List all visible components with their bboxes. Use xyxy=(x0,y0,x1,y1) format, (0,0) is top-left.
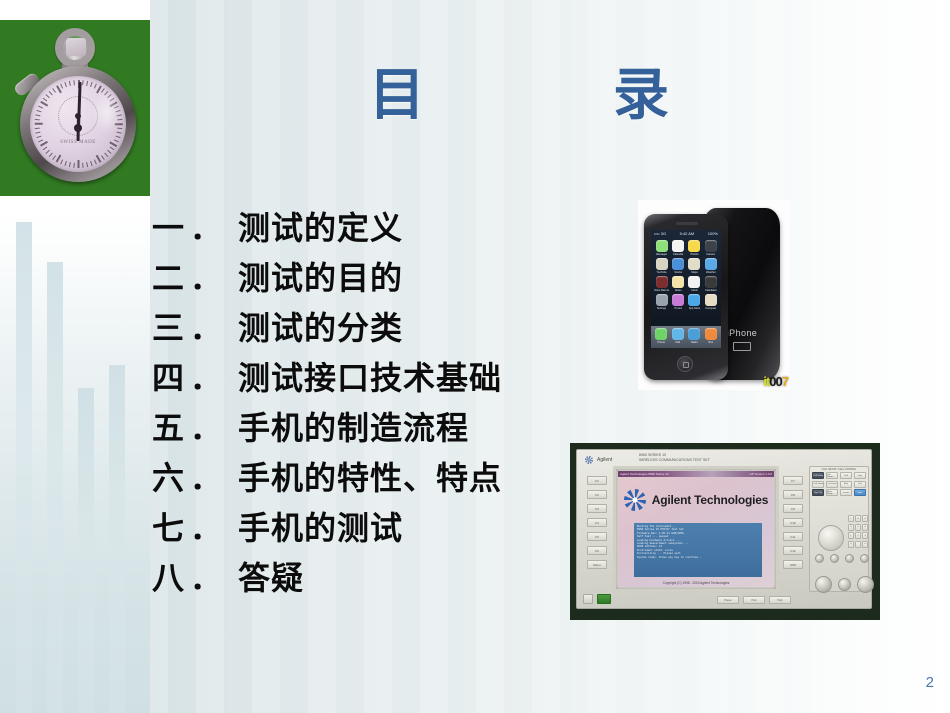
stopwatch-tick xyxy=(114,139,119,142)
test-set-softkey[interactable]: F8 xyxy=(783,490,803,499)
connector-audio-in[interactable] xyxy=(845,554,854,563)
stopwatch-tick xyxy=(101,155,105,160)
iphone-app-label: Compass xyxy=(705,307,716,310)
agilent-starburst-icon xyxy=(624,489,646,511)
test-set-control-key[interactable]: Local xyxy=(840,489,852,496)
iphone-app-label: Weather xyxy=(706,271,716,274)
test-set-control-key[interactable]: Call xyxy=(840,472,852,479)
messages-icon xyxy=(656,240,668,252)
toc-item-6[interactable]: 六． 手机的特性、特点 xyxy=(152,453,592,503)
stopwatch-tick xyxy=(107,150,111,154)
test-set-numpad-key[interactable]: 5 xyxy=(855,524,861,531)
stopwatch-tick xyxy=(94,84,97,89)
toc-item-label: 测试接口技术基础 xyxy=(238,353,502,399)
iphone-app-label: Stocks xyxy=(674,271,682,274)
stopwatch-tick xyxy=(43,98,48,102)
iphone-front-view: •••• 3G 5:42 AM 100% MessagesCalendarPho… xyxy=(644,214,728,380)
watermark-middle: 00 xyxy=(769,374,781,389)
stopwatch-subdial-pivot xyxy=(75,113,81,119)
iphone-product-image: iPhone •••• 3G 5:42 AM 100% MessagesCale… xyxy=(638,200,790,390)
clock-icon xyxy=(688,276,700,288)
decorative-bar-1 xyxy=(16,222,32,713)
connector-rf-out[interactable] xyxy=(857,576,874,593)
iphone-dock: PhoneMailSafariiPod xyxy=(651,326,721,348)
stopwatch-tick xyxy=(52,155,56,160)
iphone-earpiece-speaker xyxy=(676,222,698,225)
display-title-left: Agilent Technologies 8960 Series 10 xyxy=(620,472,668,476)
image-watermark: it007 xyxy=(763,374,788,389)
test-set-left-softkeys: F1F2F3F4F5F6Menu xyxy=(587,476,607,569)
stopwatch-tick xyxy=(36,136,41,138)
test-set-display-bezel: Agilent Technologies 8960 Series 10 HP V… xyxy=(613,466,779,592)
toc-item-number: 六． xyxy=(152,453,238,499)
app-store-icon xyxy=(688,294,700,306)
decorative-bar-4 xyxy=(109,365,125,713)
rotary-knob[interactable] xyxy=(818,525,844,551)
test-set-control-key[interactable]: Call Hand xyxy=(812,481,824,488)
test-set-model-text: 8960 SERIES 10 WIRELESS COMMUNICATIONS T… xyxy=(639,453,710,463)
iphone-app-icon[interactable]: Calculator xyxy=(704,276,718,292)
iphone-dock-app[interactable]: iPod xyxy=(704,328,719,348)
iphone-app-icon[interactable]: App Store xyxy=(687,294,701,310)
iphone-app-label: Voice Memos xyxy=(654,289,669,292)
test-set-softkey[interactable]: F2 xyxy=(587,490,607,499)
iphone-capacity-badge xyxy=(733,342,751,351)
stopwatch-tick xyxy=(115,110,120,112)
stopwatch-tick xyxy=(60,159,63,164)
stopwatch-tick xyxy=(104,153,108,157)
stopwatch-center-pivot xyxy=(74,124,82,132)
stopwatch-tick xyxy=(73,80,75,85)
test-set-control-key[interactable]: Call Limit xyxy=(826,481,838,488)
test-set-numpad-key[interactable]: 3 xyxy=(862,532,868,539)
toc-item-label: 测试的分类 xyxy=(238,303,403,349)
test-set-control-key[interactable]: Call Setup xyxy=(812,472,824,479)
toc-item-8[interactable]: 八． 答疑 xyxy=(152,553,592,603)
photos-icon xyxy=(688,240,700,252)
test-set-softkey[interactable]: Shift xyxy=(783,560,803,569)
stopwatch-tick xyxy=(117,119,122,121)
test-set-softkey[interactable]: F11 xyxy=(783,532,803,541)
numeric-keypad: 7894561230.+/- xyxy=(848,515,868,548)
stopwatch-tick xyxy=(43,147,48,151)
iphone-status-bar: •••• 3G 5:42 AM 100% xyxy=(651,230,721,237)
toc-item-number: 三． xyxy=(152,303,238,349)
iphone-app-label: Messages xyxy=(656,253,668,256)
connector-audio-out[interactable] xyxy=(860,554,869,563)
connector-aux-rf-out[interactable] xyxy=(815,554,824,563)
mail-icon xyxy=(672,328,684,340)
test-set-right-softkeys: F7F8F9F10F11F12Shift xyxy=(783,476,803,569)
test-set-bottom-button[interactable]: Help xyxy=(769,596,791,604)
iphone-app-label: Settings xyxy=(657,307,666,310)
iphone-dock-app[interactable]: Phone xyxy=(654,328,669,348)
test-set-power-indicator xyxy=(597,594,611,604)
test-set-numpad-key[interactable]: 6 xyxy=(862,524,868,531)
test-set-softkey[interactable]: F12 xyxy=(783,546,803,555)
test-set-numpad-key[interactable]: 0 xyxy=(848,541,854,548)
status-battery: 100% xyxy=(708,231,718,236)
toc-item-label: 手机的制造流程 xyxy=(238,403,469,449)
test-set-control-key[interactable]: End xyxy=(840,481,852,488)
iphone-app-icon[interactable]: Weather xyxy=(704,258,718,274)
test-set-softkey[interactable]: F4 xyxy=(587,518,607,527)
stopwatch-tick xyxy=(38,139,43,142)
stopwatch-tick xyxy=(73,163,75,168)
test-set-brand-name: Agilent xyxy=(597,457,612,463)
stopwatch-tick xyxy=(117,114,122,116)
stopwatch-tick xyxy=(90,82,92,87)
page-title: 目 录 xyxy=(320,50,740,131)
stopwatch-ring-inner xyxy=(66,38,86,56)
toc-item-label: 测试的定义 xyxy=(238,203,403,249)
test-set-numpad-key[interactable]: 4 xyxy=(848,524,854,531)
stopwatch-tick xyxy=(36,110,41,112)
toc-item-7[interactable]: 七． 手机的测试 xyxy=(152,503,592,553)
test-set-softkey[interactable]: F3 xyxy=(587,504,607,513)
stopwatch-tick xyxy=(35,119,40,121)
stopwatch-brand-text: SWISS MADE xyxy=(46,140,110,145)
test-set-control-key[interactable]: Call xyxy=(854,481,866,488)
test-set-numpad-key[interactable]: 8 xyxy=(855,515,861,522)
iphone-app-label: Calendar xyxy=(673,253,684,256)
youtube-icon xyxy=(656,258,668,270)
connector-serial[interactable] xyxy=(838,578,851,591)
display-title-bar: Agilent Technologies 8960 Series 10 HP V… xyxy=(618,471,774,477)
display-copyright-text: Copyright (C) 1998 - 2003 Agilent Techno… xyxy=(618,581,774,585)
stopwatch-image: SWISS MADE xyxy=(0,20,150,196)
test-set-numpad-key[interactable]: 9 xyxy=(862,515,868,522)
stopwatch-tick xyxy=(115,136,120,138)
decorative-bar-2 xyxy=(47,262,63,713)
home-button-square-icon xyxy=(683,362,689,368)
test-set-softkey[interactable]: Menu xyxy=(587,560,607,569)
iphone-app-icon[interactable]: Maps xyxy=(687,258,701,274)
test-set-softkey[interactable]: F5 xyxy=(587,532,607,541)
ipod-icon xyxy=(705,328,717,340)
test-set-softkey[interactable]: F9 xyxy=(783,504,803,513)
toc-item-1[interactable]: 一． 测试的定义 xyxy=(152,203,592,253)
iphone-app-icon[interactable]: Voice Memos xyxy=(654,276,669,292)
iphone-home-screen-grid: MessagesCalendarPhotosCameraYouTubeStock… xyxy=(651,237,721,310)
iphone-dock-label: iPod xyxy=(708,341,713,344)
toc-item-number: 一． xyxy=(152,203,238,249)
test-set-softkey[interactable]: F10 xyxy=(783,518,803,527)
iphone-app-label: iTunes xyxy=(674,307,682,310)
calendar-icon xyxy=(672,240,684,252)
stopwatch-tick xyxy=(117,132,122,134)
page-number: 2 xyxy=(926,674,934,691)
toc-item-label: 答疑 xyxy=(238,553,304,599)
iphone-dock-label: Safari xyxy=(691,341,698,344)
test-set-keypad-panel: CALL SETUP / CALL CONTROL Call SetupCall… xyxy=(809,466,869,592)
stopwatch-tick xyxy=(114,106,119,109)
compass-icon xyxy=(705,294,717,306)
stopwatch-tick xyxy=(94,159,97,164)
toc-item-number: 五． xyxy=(152,403,238,449)
toc-item-number: 四． xyxy=(152,353,238,399)
stopwatch-tick xyxy=(60,84,63,89)
test-set-numpad-key[interactable]: 2 xyxy=(855,532,861,539)
test-set-softkey[interactable]: F7 xyxy=(783,476,803,485)
stopwatch-tick xyxy=(49,91,53,95)
stopwatch-tick xyxy=(69,162,71,167)
iphone-dock-app[interactable]: Mail xyxy=(671,328,686,348)
toc-item-4[interactable]: 四． 测试接口技术基础 xyxy=(152,353,592,403)
stopwatch-tick xyxy=(64,161,66,166)
stopwatch-tick xyxy=(117,128,122,130)
connector-rf-in-out[interactable] xyxy=(815,576,832,593)
stopwatch-tick xyxy=(104,91,108,95)
table-of-contents-list: 一． 测试的定义 二． 测试的目的 三． 测试的分类 四． 测试接口技术基础 五… xyxy=(152,203,592,603)
agilent-wordmark: Agilent Technologies xyxy=(652,493,768,507)
left-decorative-panel: SWISS MADE xyxy=(0,0,150,713)
toc-item-5[interactable]: 五． 手机的制造流程 xyxy=(152,403,592,453)
stopwatch-tick xyxy=(86,81,88,86)
toc-item-number: 七． xyxy=(152,503,238,549)
connector-row-bottom xyxy=(815,576,874,593)
settings-icon xyxy=(656,294,668,306)
presentation-slide: SWISS MADE 目 录 一． 测试的定义 二． 测试的目的 三． 测试的分… xyxy=(0,0,950,713)
iphone-dock-label: Phone xyxy=(657,341,665,344)
toc-item-number: 八． xyxy=(152,553,238,599)
test-set-power-switch[interactable] xyxy=(583,594,593,604)
iphone-home-button[interactable] xyxy=(677,356,693,372)
stopwatch-tick xyxy=(35,128,40,130)
test-set-bottom-button[interactable]: Print xyxy=(743,596,765,604)
calculator-icon xyxy=(705,276,717,288)
watermark-suffix: 7 xyxy=(782,374,788,389)
iphone-app-icon[interactable]: Calendar xyxy=(671,240,685,256)
maps-icon xyxy=(688,258,700,270)
toc-item-label: 手机的测试 xyxy=(238,503,403,549)
test-set-softkey[interactable]: F6 xyxy=(587,546,607,555)
iphone-screen: •••• 3G 5:42 AM 100% MessagesCalendarPho… xyxy=(651,230,721,348)
stopwatch-tick xyxy=(82,80,84,85)
stopwatch-tick xyxy=(35,132,40,134)
iphone-app-icon[interactable]: Clock xyxy=(687,276,701,292)
stopwatch-tick xyxy=(69,81,71,86)
notes-icon xyxy=(672,276,684,288)
camera-icon xyxy=(705,240,717,252)
call-control-key-grid: Call SetupCall ParmsCallOrigCall HandCal… xyxy=(810,471,868,497)
test-set-display: Agilent Technologies 8960 Series 10 HP V… xyxy=(618,471,774,587)
iphone-app-icon[interactable]: Compass xyxy=(704,294,718,310)
toc-item-label: 手机的特性、特点 xyxy=(238,453,502,499)
iphone-app-label: Maps xyxy=(691,271,697,274)
stopwatch-tick xyxy=(35,123,43,125)
iphone-app-icon[interactable]: YouTube xyxy=(654,258,669,274)
weather-icon xyxy=(705,258,717,270)
agilent-test-set-image: Agilent 8960 SERIES 10 WIRELESS COMMUNIC… xyxy=(570,443,880,620)
display-boot-console: Booting the instrument...8960 Series 10 … xyxy=(634,523,762,577)
stopwatch-tick xyxy=(78,160,80,168)
phone-icon xyxy=(655,328,667,340)
iphone-app-icon[interactable]: iTunes xyxy=(671,294,685,310)
test-set-control-key[interactable]: Orig xyxy=(854,472,866,479)
display-title-right: HP Version 1.0.0 xyxy=(750,472,772,476)
iphone-app-label: Photos xyxy=(690,253,698,256)
iphone-dock-app[interactable]: Safari xyxy=(687,328,702,348)
test-set-numpad-key[interactable]: +/- xyxy=(862,541,868,548)
stopwatch-tick xyxy=(101,88,105,93)
iphone-app-icon[interactable]: Settings xyxy=(654,294,669,310)
stopwatch-tick xyxy=(110,147,115,151)
toc-item-2[interactable]: 二． 测试的目的 xyxy=(152,253,592,303)
console-line: System ready. Press any key to continue.… xyxy=(637,556,759,559)
stopwatch-tick xyxy=(38,106,43,109)
test-set-control-key[interactable]: Sys Cfg xyxy=(812,489,824,496)
iphone-app-label: Camera xyxy=(706,253,715,256)
toc-item-number: 二． xyxy=(152,253,238,299)
stopwatch-tick xyxy=(82,163,84,168)
test-set-softkey[interactable]: F1 xyxy=(587,476,607,485)
iphone-app-icon[interactable]: Camera xyxy=(704,240,718,256)
voice-memos-icon xyxy=(656,276,668,288)
display-logo-row: Agilent Technologies xyxy=(618,489,774,511)
connector-row-top xyxy=(815,554,869,563)
apple-logo-icon xyxy=(730,248,756,280)
stopwatch-tick xyxy=(40,101,48,106)
toc-item-3[interactable]: 三． 测试的分类 xyxy=(152,303,592,353)
stopwatch-tick xyxy=(107,94,111,98)
stopwatch-tick xyxy=(64,82,66,87)
iphone-app-icon[interactable]: Notes xyxy=(671,276,685,292)
safari-icon xyxy=(688,328,700,340)
test-set-bottom-buttons: PresetPrintHelp xyxy=(717,596,791,604)
iphone-app-icon[interactable]: Stocks xyxy=(671,258,685,274)
stopwatch-tick xyxy=(52,88,56,93)
test-set-control-key[interactable]: Meas Setup xyxy=(826,489,838,496)
test-set-control-key[interactable]: Call Parms xyxy=(826,472,838,479)
status-signal: •••• 3G xyxy=(654,231,666,236)
itunes-icon xyxy=(672,294,684,306)
test-set-control-key[interactable]: Start xyxy=(854,489,866,496)
toc-item-label: 测试的目的 xyxy=(238,253,403,299)
stopwatch-tick xyxy=(110,98,115,102)
test-set-numpad-key[interactable]: . xyxy=(855,541,861,548)
iphone-dock-label: Mail xyxy=(675,341,680,344)
stopwatch-tick xyxy=(90,161,92,166)
stopwatch-tick xyxy=(115,123,123,125)
stopwatch-tick xyxy=(49,153,53,157)
test-set-front-panel: Agilent 8960 SERIES 10 WIRELESS COMMUNIC… xyxy=(576,449,872,609)
stopwatch-tick xyxy=(86,162,88,167)
decorative-bar-3 xyxy=(78,388,94,713)
iphone-app-label: App Store xyxy=(689,307,701,310)
iphone-app-icon[interactable]: Photos xyxy=(687,240,701,256)
status-time: 5:42 AM xyxy=(680,231,695,236)
connector-ant-in[interactable] xyxy=(830,554,839,563)
iphone-app-label: Clock xyxy=(691,289,698,292)
test-set-numpad-key[interactable]: 1 xyxy=(848,532,854,539)
iphone-app-label: YouTube xyxy=(656,271,666,274)
stocks-icon xyxy=(672,258,684,270)
iphone-app-label: Calculator xyxy=(705,289,717,292)
iphone-app-label: Notes xyxy=(675,289,682,292)
agilent-logo-icon xyxy=(585,456,593,464)
test-set-numpad-key[interactable]: 7 xyxy=(848,515,854,522)
stopwatch-tick xyxy=(45,94,49,98)
stopwatch-tick xyxy=(45,150,49,154)
test-set-bottom-button[interactable]: Preset xyxy=(717,596,739,604)
stopwatch-tick xyxy=(35,114,40,116)
iphone-app-icon[interactable]: Messages xyxy=(654,240,669,256)
